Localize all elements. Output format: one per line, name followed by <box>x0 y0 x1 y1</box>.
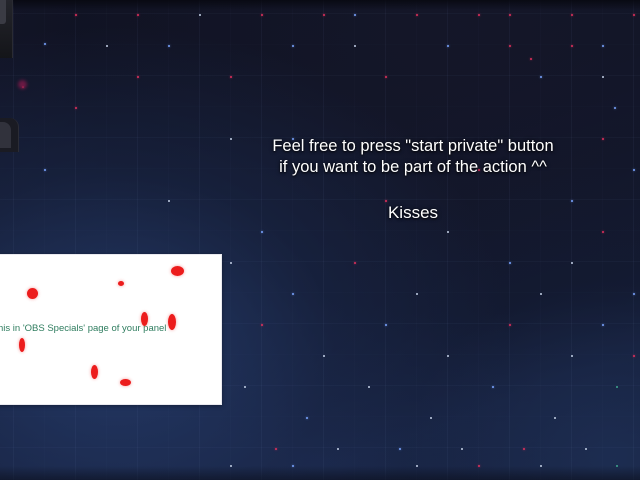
background-dot <box>585 448 587 450</box>
background-dot <box>137 76 139 78</box>
popup-panel-message: ure this in 'OBS Specials' page of your … <box>0 323 215 335</box>
background-dot <box>199 14 201 16</box>
background-dot <box>261 324 263 326</box>
background-dot <box>230 138 232 140</box>
background-dot <box>75 107 77 109</box>
background-dot <box>633 14 635 16</box>
background-dot <box>230 76 232 78</box>
overlay-message-line-1: Feel free to press "start private" butto… <box>253 136 573 157</box>
background-dot <box>44 169 46 171</box>
background-dot <box>461 448 463 450</box>
background-dot <box>530 58 532 60</box>
background-dot <box>633 355 635 357</box>
background-dot <box>323 14 325 16</box>
background-dot <box>168 200 170 202</box>
background-dot <box>292 465 294 467</box>
background-dot <box>137 14 139 16</box>
overlay-signature: Kisses <box>253 202 573 223</box>
background-dot <box>571 45 573 47</box>
background-dot <box>368 386 370 388</box>
background-dot <box>399 448 401 450</box>
background-dot <box>571 355 573 357</box>
background-dot <box>478 465 480 467</box>
background-dot <box>385 324 387 326</box>
popup-panel-red-marker <box>120 379 131 386</box>
background-dot <box>106 45 108 47</box>
background-dot <box>571 14 573 16</box>
background-dot <box>385 76 387 78</box>
popup-panel-red-marker <box>168 314 176 330</box>
background-dot <box>478 14 480 16</box>
background-grid-major <box>0 0 640 480</box>
popup-panel-red-marker <box>141 312 148 326</box>
background-dot <box>261 14 263 16</box>
background-dot <box>614 107 616 109</box>
popup-panel-red-marker <box>91 365 98 379</box>
background-dot <box>75 14 77 16</box>
popup-panel-red-marker <box>27 288 38 299</box>
background-dot <box>447 231 449 233</box>
background-dot <box>540 465 542 467</box>
bottom-vignette <box>0 466 640 480</box>
overlay-message: Feel free to press "start private" butto… <box>253 136 573 178</box>
background-dot <box>44 43 46 45</box>
background-dot <box>523 448 525 450</box>
background-dot <box>509 14 511 16</box>
background-dot <box>306 417 308 419</box>
background-dot <box>540 293 542 295</box>
background-dot <box>602 324 604 326</box>
background-dot <box>509 324 511 326</box>
window-chrome-fragment-inner <box>0 122 11 148</box>
background-dot <box>292 293 294 295</box>
magenta-glow-dot <box>18 80 27 89</box>
obs-specials-popup-panel[interactable]: ure this in 'OBS Specials' page of your … <box>0 254 222 405</box>
background-dot <box>230 262 232 264</box>
background-dot <box>447 355 449 357</box>
background-dot <box>554 417 556 419</box>
background-dot <box>337 448 339 450</box>
background-dot <box>168 45 170 47</box>
background-dot <box>230 465 232 467</box>
background-dot <box>633 169 635 171</box>
background-dot <box>292 45 294 47</box>
popup-panel-red-marker <box>171 266 184 276</box>
background-dot <box>323 355 325 357</box>
background-dot <box>416 14 418 16</box>
background-grid-minor <box>0 0 640 480</box>
background-dot <box>509 262 511 264</box>
overlay-message-line-2: if you want to be part of the action ^^ <box>253 157 573 178</box>
background-dot <box>571 262 573 264</box>
background-dot <box>540 76 542 78</box>
window-chrome-fragment-tab <box>0 0 6 24</box>
popup-panel-red-marker <box>118 281 124 286</box>
background-dot <box>354 45 356 47</box>
top-vignette <box>0 0 640 10</box>
background-dot <box>430 417 432 419</box>
background-dot <box>602 138 604 140</box>
background-dot <box>633 293 635 295</box>
screen-root: Feel free to press "start private" butto… <box>0 0 640 480</box>
background-dot <box>602 231 604 233</box>
background-dot <box>416 465 418 467</box>
background-dot <box>616 386 618 388</box>
background-dot <box>616 465 618 467</box>
background-dot <box>354 14 356 16</box>
background-dot <box>447 45 449 47</box>
background-dot <box>354 262 356 264</box>
background-dot <box>275 448 277 450</box>
background-dot <box>244 386 246 388</box>
popup-panel-red-marker <box>19 338 25 352</box>
background-dot <box>602 45 604 47</box>
background-dot <box>261 231 263 233</box>
background-dot <box>509 45 511 47</box>
background-dot <box>492 386 494 388</box>
background-dot <box>602 76 604 78</box>
background-grid-dots <box>0 0 640 480</box>
background-dot <box>416 293 418 295</box>
